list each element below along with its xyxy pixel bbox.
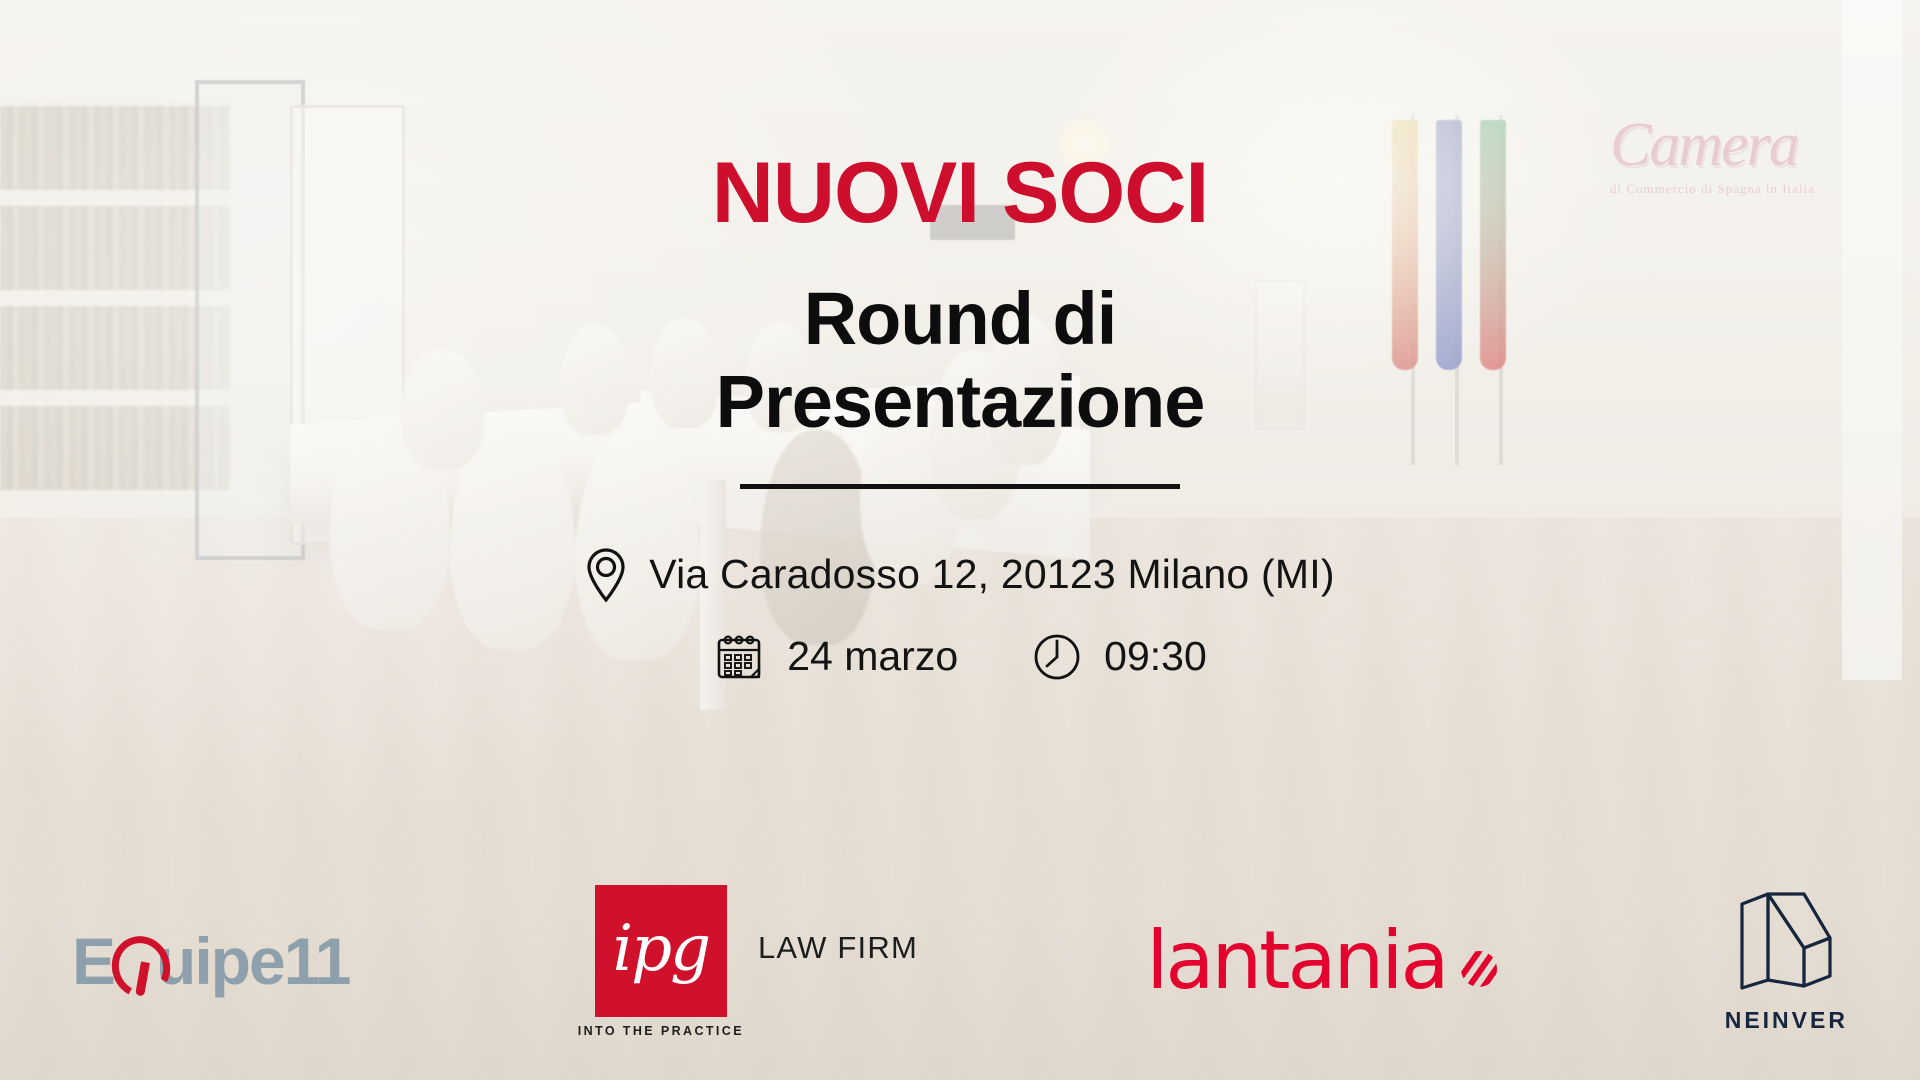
time-item: 09:30 bbox=[1032, 632, 1207, 682]
venue-text: Via Caradosso 12, 20123 Milano (MI) bbox=[649, 551, 1334, 598]
logo-equipe11: E uipe11 bbox=[72, 923, 349, 999]
meta-row: 24 marzo 09:30 bbox=[713, 631, 1207, 683]
equipe-letters-rest: uipe11 bbox=[156, 923, 349, 999]
subtitle-line-1: Round di bbox=[716, 278, 1205, 361]
ipg-mark: ipg bbox=[595, 885, 727, 1017]
equipe-q-icon bbox=[108, 928, 160, 994]
calendar-icon bbox=[713, 631, 765, 683]
map-pin-icon bbox=[585, 547, 627, 603]
time-text: 09:30 bbox=[1104, 633, 1207, 680]
ipg-law-firm-text: LAW FIRM bbox=[758, 930, 918, 992]
page-title: NUOVI SOCI bbox=[712, 150, 1209, 236]
logo-ipg: ipg INTO THE PRACTICE LAW FIRM bbox=[578, 885, 918, 1038]
logo-neinver: NEINVER bbox=[1725, 888, 1848, 1034]
ipg-script-text: ipg bbox=[613, 917, 709, 981]
date-text: 24 marzo bbox=[787, 633, 958, 680]
lantania-stripes-icon bbox=[1461, 951, 1497, 987]
neinver-wordmark: NEINVER bbox=[1725, 1007, 1848, 1034]
subtitle-line-2: Presentazione bbox=[716, 361, 1205, 444]
date-item: 24 marzo bbox=[713, 631, 958, 683]
logo-lantania: lantania bbox=[1146, 923, 1496, 999]
event-poster: Camera di Commercio di Spagna in Italia … bbox=[0, 0, 1920, 1080]
venue-row: Via Caradosso 12, 20123 Milano (MI) bbox=[585, 547, 1334, 603]
ipg-tagline: INTO THE PRACTICE bbox=[578, 1024, 744, 1038]
clock-icon bbox=[1032, 632, 1082, 682]
divider bbox=[740, 484, 1180, 489]
lantania-wordmark: lantania bbox=[1146, 923, 1446, 999]
sponsor-logos: E uipe11 ipg INTO THE PRACTICE LAW FIRM … bbox=[0, 866, 1920, 1056]
page-subtitle: Round di Presentazione bbox=[716, 278, 1205, 444]
neinver-cube-icon bbox=[1732, 888, 1840, 997]
